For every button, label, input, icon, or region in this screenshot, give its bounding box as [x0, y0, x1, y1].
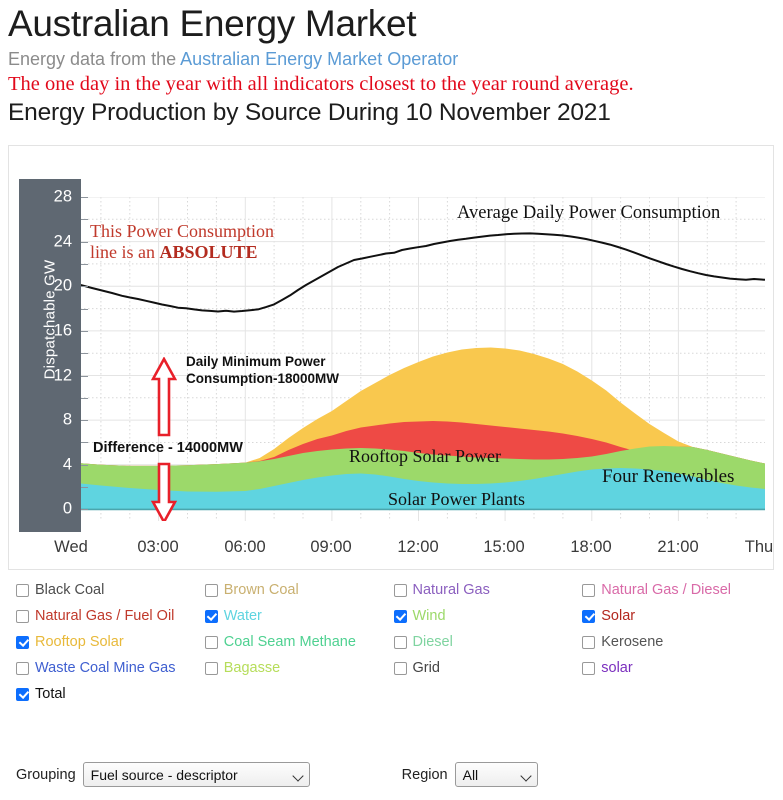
chart-container: Average Daily Power Consumption Rooftop …: [8, 145, 774, 570]
x-tick-1200: 12:00: [397, 538, 438, 557]
solar-power-plants-label: Solar Power Plants: [388, 489, 525, 510]
difference-note: Difference - 14000MW: [93, 440, 243, 457]
legend-item-bagasse[interactable]: Bagasse: [205, 660, 394, 676]
absolute-note-prefix: line is an: [90, 242, 160, 262]
chevron-down-icon: [520, 770, 531, 781]
chevron-down-icon: [292, 770, 303, 781]
x-tick-0300: 03:00: [137, 538, 178, 557]
x-tick-2100: 21:00: [657, 538, 698, 557]
checkbox-wind[interactable]: [394, 610, 407, 623]
y-tick-8: 8: [63, 411, 72, 430]
legend-item-water[interactable]: Water: [205, 608, 394, 624]
down-arrow: [151, 462, 177, 521]
absolute-note: This Power Consumption line is an ABSOLU…: [90, 221, 274, 263]
legend-item-waste-coal-mine-gas[interactable]: Waste Coal Mine Gas: [16, 660, 205, 676]
y-tick-4: 4: [63, 455, 72, 474]
legend-item-solar[interactable]: Solar: [582, 608, 771, 624]
legend-label-natural-gas-diesel: Natural Gas / Diesel: [601, 582, 731, 598]
legend-label-rooftop-solar: Rooftop Solar: [35, 634, 124, 650]
checkbox-waste-coal-mine-gas[interactable]: [16, 662, 29, 675]
x-tick-0600: 06:00: [224, 538, 265, 557]
legend-item-black-coal[interactable]: Black Coal: [16, 582, 205, 598]
legend-label-wind: Wind: [413, 608, 446, 624]
checkbox-grid[interactable]: [394, 662, 407, 675]
legend-item-natural-gas[interactable]: Natural Gas: [394, 582, 583, 598]
checkbox-natural-gas[interactable]: [394, 584, 407, 597]
four-renewables-label: Four Renewables: [602, 466, 734, 488]
legend-label-total: Total: [35, 686, 66, 702]
subtitle-prefix: Energy data from the: [8, 49, 180, 69]
legend-item-kerosene[interactable]: Kerosene: [582, 634, 771, 650]
daily-minimum-line2: Consumption-18000MW: [186, 370, 339, 387]
checkbox-solar-lowercase[interactable]: [582, 662, 595, 675]
checkbox-kerosene[interactable]: [582, 636, 595, 649]
checkbox-coal-seam-methane[interactable]: [205, 636, 218, 649]
legend-label-waste-coal-mine-gas: Waste Coal Mine Gas: [35, 660, 175, 676]
checkbox-black-coal[interactable]: [16, 584, 29, 597]
legend-label-solar: Solar: [601, 608, 635, 624]
page-root: Australian Energy Market Energy data fro…: [0, 0, 783, 800]
legend-label-black-coal: Black Coal: [35, 582, 104, 598]
x-tick-1500: 15:00: [483, 538, 524, 557]
legend-label-diesel: Diesel: [413, 634, 453, 650]
x-tick-1800: 18:00: [570, 538, 611, 557]
legend-item-brown-coal[interactable]: Brown Coal: [205, 582, 394, 598]
red-note: The one day in the year with all indicat…: [8, 72, 783, 97]
legend-item-total[interactable]: Total: [16, 686, 212, 702]
checkbox-rooftop-solar[interactable]: [16, 636, 29, 649]
legend-item-natural-gas-diesel[interactable]: Natural Gas / Diesel: [582, 582, 771, 598]
region-label: Region: [402, 767, 448, 783]
absolute-note-bold: ABSOLUTE: [160, 242, 258, 262]
page-title: Australian Energy Market: [8, 2, 783, 46]
bottom-controls: Grouping Fuel source - descriptor Region…: [16, 762, 538, 787]
average-daily-power-consumption-label: Average Daily Power Consumption: [457, 203, 720, 224]
legend-label-bagasse: Bagasse: [224, 660, 280, 676]
legend-item-diesel[interactable]: Diesel: [394, 634, 583, 650]
grouping-select[interactable]: Fuel source - descriptor: [83, 762, 310, 787]
region-select[interactable]: All: [455, 762, 538, 787]
legend-row-2: Natural Gas / Fuel Oil Water Wind Solar: [16, 608, 771, 624]
legend-label-brown-coal: Brown Coal: [224, 582, 299, 598]
grouping-label: Grouping: [16, 767, 76, 783]
x-tick-wed: Wed: [54, 538, 88, 557]
legend-label-solar-lowercase: solar: [601, 660, 632, 676]
checkbox-bagasse[interactable]: [205, 662, 218, 675]
legend-row-4: Waste Coal Mine Gas Bagasse Grid solar: [16, 660, 771, 676]
legend-label-natural-gas: Natural Gas: [413, 582, 490, 598]
absolute-note-line1: This Power Consumption: [90, 221, 274, 242]
legend-item-rooftop-solar[interactable]: Rooftop Solar: [16, 634, 205, 650]
y-tick-12: 12: [54, 366, 72, 385]
y-tick-0: 0: [63, 500, 72, 519]
y-tick-16: 16: [54, 321, 72, 340]
x-tick-thu: Thu: [745, 538, 773, 557]
page-subtitle: Energy data from the Australian Energy M…: [8, 47, 783, 71]
legend-label-coal-seam-methane: Coal Seam Methane: [224, 634, 356, 650]
legend-label-water: Water: [224, 608, 262, 624]
y-tick-28: 28: [54, 188, 72, 207]
checkbox-natural-gas-fuel-oil[interactable]: [16, 610, 29, 623]
y-tick-20: 20: [54, 277, 72, 296]
chart-title: Energy Production by Source During 10 No…: [8, 97, 783, 128]
absolute-note-line2: line is an ABSOLUTE: [90, 242, 274, 263]
legend-label-natural-gas-fuel-oil: Natural Gas / Fuel Oil: [35, 608, 174, 624]
legend-item-coal-seam-methane[interactable]: Coal Seam Methane: [205, 634, 394, 650]
checkbox-solar[interactable]: [582, 610, 595, 623]
checkbox-total[interactable]: [16, 688, 29, 701]
page-header: Australian Energy Market Energy data fro…: [0, 0, 783, 128]
legend-item-grid[interactable]: Grid: [394, 660, 583, 676]
up-arrow: [151, 357, 177, 437]
plot-area: Average Daily Power Consumption Rooftop …: [72, 197, 765, 521]
legend-row-5: Total: [16, 686, 771, 702]
x-tick-0900: 09:00: [310, 538, 351, 557]
aemo-link[interactable]: Australian Energy Market Operator: [180, 49, 458, 69]
checkbox-brown-coal[interactable]: [205, 584, 218, 597]
legend-item-solar-lowercase[interactable]: solar: [582, 660, 771, 676]
checkbox-natural-gas-diesel[interactable]: [582, 584, 595, 597]
daily-minimum-line1: Daily Minimum Power: [186, 353, 339, 370]
legend-label-grid: Grid: [413, 660, 440, 676]
checkbox-water[interactable]: [205, 610, 218, 623]
legend-item-natural-gas-fuel-oil[interactable]: Natural Gas / Fuel Oil: [16, 608, 205, 624]
checkbox-diesel[interactable]: [394, 636, 407, 649]
grouping-selected-value: Fuel source - descriptor: [91, 767, 238, 783]
legend-label-kerosene: Kerosene: [601, 634, 663, 650]
legend-row-3: Rooftop Solar Coal Seam Methane Diesel K…: [16, 634, 771, 650]
legend-item-wind[interactable]: Wind: [394, 608, 583, 624]
y-tick-24: 24: [54, 232, 72, 251]
daily-minimum-note: Daily Minimum Power Consumption-18000MW: [186, 353, 339, 387]
region-selected-value: All: [463, 767, 479, 783]
source-filter-legend: Black Coal Brown Coal Natural Gas Natura…: [16, 582, 771, 712]
y-axis-panel: Dispatchable GW 28 24 20 16 12 8 4 0: [19, 179, 81, 532]
legend-row-1: Black Coal Brown Coal Natural Gas Natura…: [16, 582, 771, 598]
rooftop-solar-label: Rooftop Solar Power: [349, 446, 501, 467]
